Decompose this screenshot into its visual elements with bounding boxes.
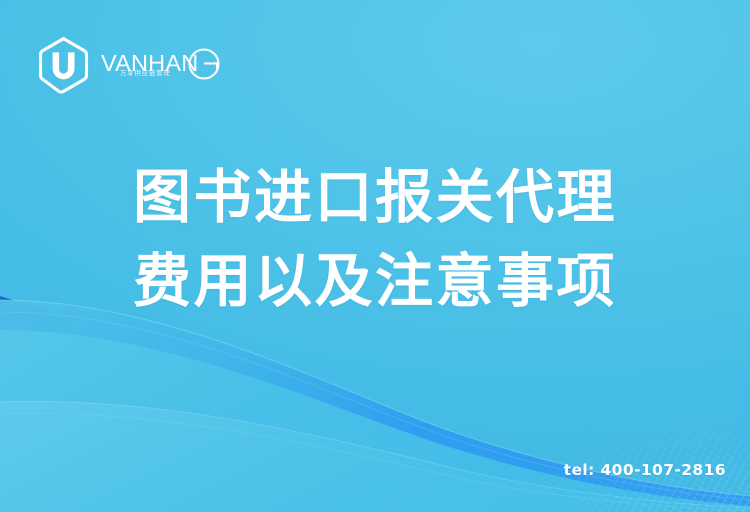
headline-block: 图书进口报关代理 费用以及注意事项 (0, 168, 750, 310)
vanhang-wordmark-icon: VANHAN (100, 45, 226, 85)
poster-canvas: VANHAN 万享供应链管理 图书进口报关代理 费用以及注意事项 tel: 40… (0, 0, 750, 512)
logo-wordmark-group: VANHAN 万享供应链管理 (100, 45, 226, 85)
headline-line-2: 费用以及注意事项 (0, 252, 750, 310)
headline-line-1: 图书进口报关代理 (0, 168, 750, 226)
logo-subtitle-cn: 万享供应链管理 (120, 68, 171, 77)
contact-phone[interactable]: tel: 400-107-2816 (564, 461, 726, 479)
vanhang-hexagon-u-icon (36, 36, 91, 94)
brand-logo[interactable]: VANHAN 万享供应链管理 (36, 36, 226, 94)
